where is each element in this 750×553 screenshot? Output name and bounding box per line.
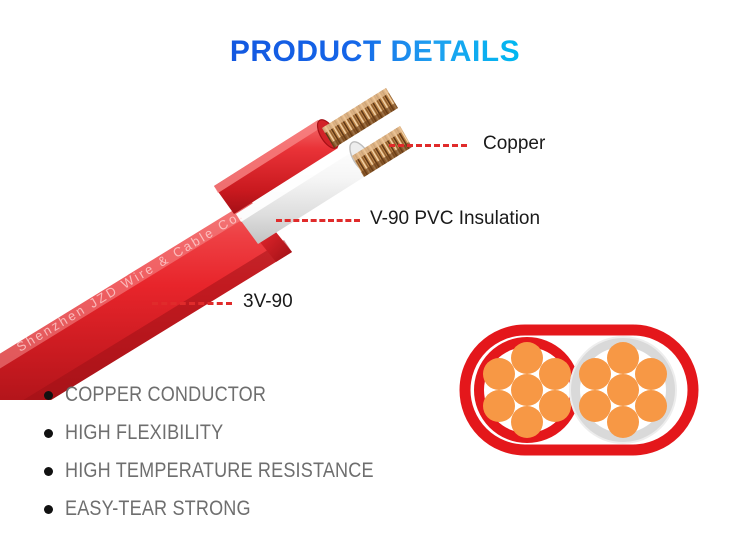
product-details-page: PRODUCT DETAILS [0, 0, 750, 553]
copper-conductor-lower [352, 126, 412, 177]
list-item: EASY-TEAR STRONG [44, 490, 444, 528]
cable-illustration: Shenzhen JZD Wire & Cable Co. [0, 0, 470, 400]
cable-cross-section-diagram [455, 318, 705, 463]
bullet-icon [44, 467, 53, 476]
leader-line-copper [389, 144, 467, 147]
list-item: HIGH FLEXIBILITY [44, 414, 444, 452]
list-item: COPPER CONDUCTOR [44, 376, 444, 414]
bullet-icon [44, 391, 53, 400]
feature-label: COPPER CONDUCTOR [65, 383, 266, 407]
feature-label: HIGH TEMPERATURE RESISTANCE [65, 459, 374, 483]
list-item: HIGH TEMPERATURE RESISTANCE [44, 452, 444, 490]
callout-label-rating: 3V-90 [243, 291, 293, 313]
feature-list: COPPER CONDUCTOR HIGH FLEXIBILITY HIGH T… [44, 376, 444, 528]
bullet-icon [44, 429, 53, 438]
leader-line-pvc [276, 219, 360, 222]
feature-label: HIGH FLEXIBILITY [65, 421, 223, 445]
callout-label-copper: Copper [483, 133, 545, 155]
feature-label: EASY-TEAR STRONG [65, 497, 251, 521]
callout-label-pvc-insulation: V-90 PVC Insulation [370, 208, 540, 230]
leader-line-rating [152, 302, 232, 305]
bullet-icon [44, 505, 53, 514]
